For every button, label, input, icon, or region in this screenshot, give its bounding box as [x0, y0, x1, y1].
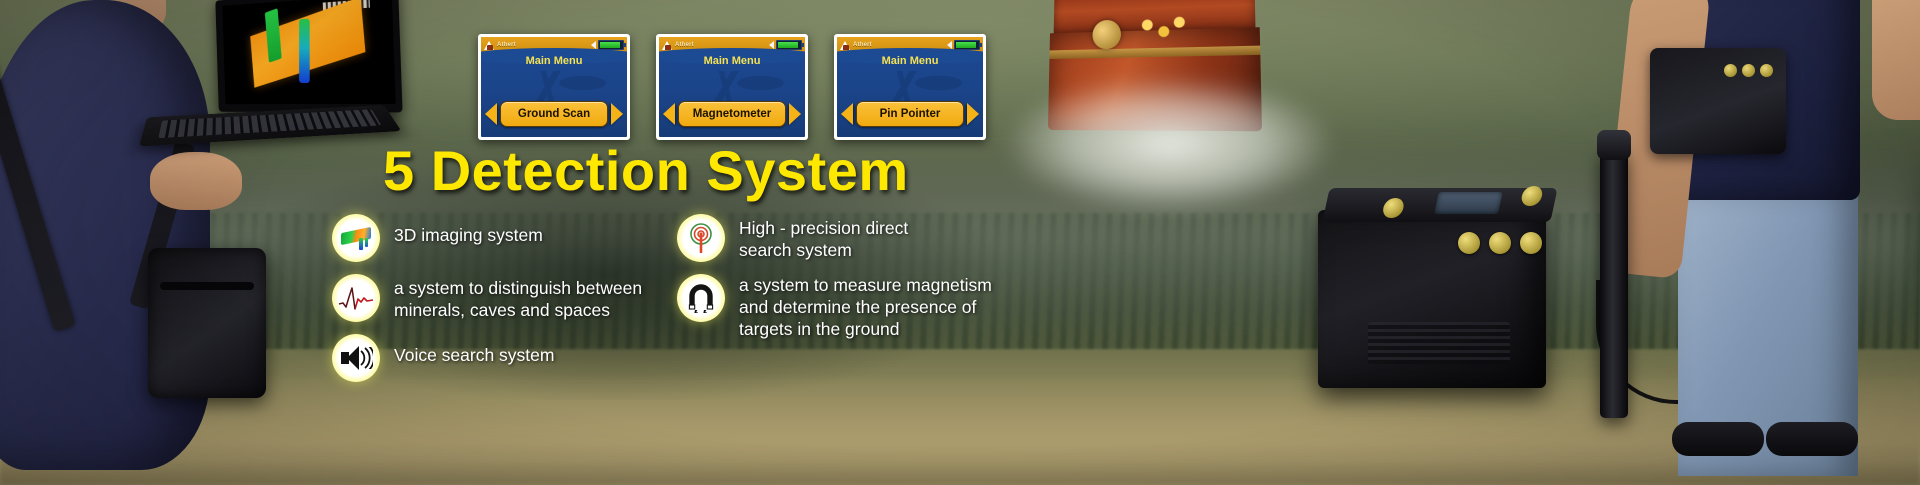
mountain-logo-icon: [484, 40, 495, 50]
brand-logo: Athert: [662, 40, 694, 50]
screen-status-bar: Athert: [837, 37, 983, 52]
operator-shoe-right: [1766, 422, 1858, 456]
list-item: Voice search system: [332, 334, 662, 382]
mode-selector: Magnetometer: [663, 101, 801, 127]
screen-title: Main Menu: [837, 55, 983, 67]
laptop-base: [139, 105, 401, 147]
right-arrow-icon[interactable]: [611, 103, 623, 125]
device-knob-left: [1381, 198, 1405, 218]
mode-selector: Pin Pointer: [841, 101, 979, 127]
brand-logo: Athert: [840, 40, 872, 50]
page-title: 5 Detection System: [383, 138, 909, 203]
left-arrow-icon[interactable]: [663, 103, 675, 125]
operator-right-arm: [1872, 0, 1920, 120]
list-item: a system to distinguish between minerals…: [332, 274, 662, 322]
mode-button[interactable]: Pin Pointer: [856, 101, 964, 127]
left-arrow-icon[interactable]: [841, 103, 853, 125]
metal-detector-main-unit: [1318, 188, 1568, 400]
screen-title: Main Menu: [481, 55, 627, 67]
device-screen-ground-scan[interactable]: Athert Main Menu Ground Scan: [478, 34, 630, 140]
mode-selector: Ground Scan: [485, 101, 623, 127]
radar-target-icon: [677, 214, 725, 262]
mode-button[interactable]: Ground Scan: [500, 101, 608, 127]
waveform-icon: [332, 274, 380, 322]
mountain-logo-icon: [840, 40, 851, 50]
feature-column-left: 3D imaging system a system to distinguis…: [332, 214, 662, 394]
device-lcd-screen: [1434, 192, 1503, 214]
list-item: High - precision direct search system: [677, 214, 1017, 262]
feature-column-right: High - precision direct search system a …: [677, 214, 1017, 352]
list-item: a system to measure magnetism and determ…: [677, 274, 1017, 340]
list-item: 3D imaging system: [332, 214, 662, 262]
feature-label: High - precision direct search system: [739, 214, 908, 261]
status-indicators: [591, 40, 624, 50]
right-arrow-icon[interactable]: [967, 103, 979, 125]
device-top-panel: [1322, 188, 1557, 222]
brand-logo: Athert: [484, 40, 516, 50]
speaker-icon: [947, 41, 952, 49]
operator-pouch: [1650, 48, 1786, 154]
equipment-bag: [148, 248, 266, 398]
operator-hand: [150, 152, 242, 210]
device-knob-row: [1458, 232, 1542, 254]
speaker-icon: [591, 41, 596, 49]
laptop-screen: [222, 0, 395, 104]
screen-title: Main Menu: [659, 55, 805, 67]
battery-full-icon: [954, 40, 980, 50]
screen-status-bar: Athert: [481, 37, 627, 52]
magnet-icon: [677, 274, 725, 322]
laptop-keyboard: [158, 109, 381, 138]
battery-full-icon: [598, 40, 624, 50]
laptop-3d-scan-display: [146, 0, 406, 154]
scan-target-spike: [299, 19, 309, 84]
brand-name: Athert: [675, 42, 694, 48]
device-screens-row: Athert Main Menu Ground Scan: [478, 34, 986, 140]
device-screen-magnetometer[interactable]: Athert Main Menu Magnetometer: [656, 34, 808, 140]
feature-label: a system to measure magnetism and determ…: [739, 274, 992, 340]
laptop-lid: [215, 0, 402, 112]
mountain-logo-icon: [662, 40, 673, 50]
device-grill: [1368, 322, 1510, 364]
battery-full-icon: [776, 40, 802, 50]
feature-label: 3D imaging system: [394, 214, 543, 246]
screen-status-bar: Athert: [659, 37, 805, 52]
left-arrow-icon[interactable]: [485, 103, 497, 125]
status-indicators: [947, 40, 980, 50]
speaker-icon: [769, 41, 774, 49]
mode-button[interactable]: Magnetometer: [678, 101, 786, 127]
feature-label: a system to distinguish between minerals…: [394, 274, 642, 321]
pin-pointer-probe: [1600, 150, 1628, 418]
3d-imaging-icon: [332, 214, 380, 262]
device-knob-right: [1520, 186, 1544, 206]
status-indicators: [769, 40, 802, 50]
scan-ridge: [265, 8, 282, 63]
brand-name: Athert: [497, 42, 516, 48]
feature-label: Voice search system: [394, 334, 554, 366]
operator-shoe-left: [1672, 422, 1764, 456]
brand-name: Athert: [853, 42, 872, 48]
right-operator: [1640, 0, 1920, 485]
detector-promo-banner: Athert Main Menu Ground Scan: [0, 0, 1920, 485]
device-screen-pin-pointer[interactable]: Athert Main Menu Pin Pointer: [834, 34, 986, 140]
right-arrow-icon[interactable]: [789, 103, 801, 125]
speaker-voice-icon: [332, 334, 380, 382]
